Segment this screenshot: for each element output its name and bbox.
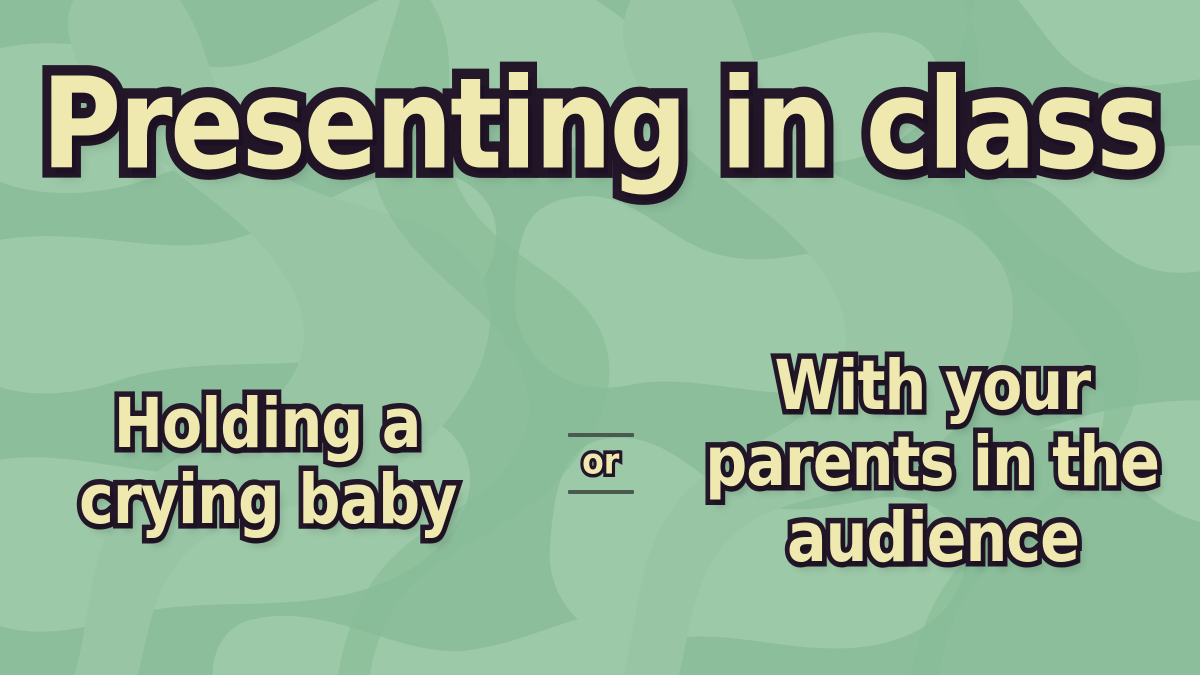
right-option-line-3: audience — [787, 504, 1079, 575]
divider-rule-top — [568, 433, 634, 437]
divider-rule-bottom — [568, 490, 634, 494]
presentation-slide: Presenting in class Holding a crying bab… — [0, 0, 1200, 675]
right-option-line-2: parents in the — [706, 427, 1160, 498]
slide-title-container: Presenting in class — [0, 74, 1200, 177]
comparison-row: Holding a crying baby or With your paren… — [0, 318, 1200, 608]
left-option-line-2: crying baby — [79, 466, 456, 537]
right-option-line-1: With your — [775, 351, 1091, 422]
left-option: Holding a crying baby — [0, 387, 547, 539]
page-title: Presenting in class — [42, 63, 1159, 189]
divider-label: or — [582, 445, 619, 480]
right-option: With your parents in the audience — [655, 349, 1200, 578]
or-divider: or — [558, 433, 644, 494]
left-option-line-1: Holding a — [114, 389, 421, 460]
